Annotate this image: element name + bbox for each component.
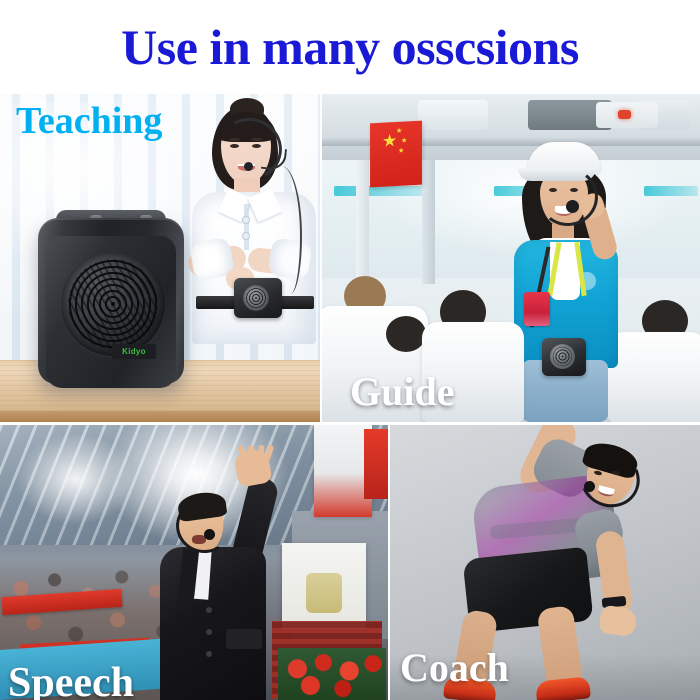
teacher-figure [178,100,320,366]
panel-guide: ★ ★ ★ ★ [322,94,700,422]
flag-star-icon: ★ [382,132,397,150]
amplifier-front-face [46,236,176,388]
speaker-figure [154,451,324,700]
ceiling-panel [418,100,488,130]
desk-edge [0,411,320,422]
panel-label-guide: Guide [350,372,454,412]
panel-speech: Speech [0,425,388,700]
suit-button [206,607,212,613]
hanging-banner [364,429,388,499]
passenger-head [386,316,426,352]
amplifier-body: Kidyo [38,218,184,384]
shirt-button [242,232,250,240]
tour-guide-figure [508,142,632,422]
speaker-grille-icon [61,252,165,356]
microphone-icon [566,200,579,213]
speaker-grille-icon [243,285,269,311]
shirt-placket [244,204,249,250]
flag-star-icon: ★ [398,148,404,155]
product-usage-collage: Use in many osscsions [0,0,700,700]
window-trim [334,186,424,196]
scene-collage: Kidyo Teaching ★ ★ [0,94,700,700]
panel-label-coach: Coach [400,648,509,688]
indicator-light-icon [618,110,631,119]
id-badge [524,292,550,326]
worn-voice-amplifier [542,338,586,376]
suit-button [206,629,212,635]
title-banner: Use in many osscsions [0,0,700,94]
black-suit [160,547,266,700]
shirt-button [242,216,250,224]
window-trim [644,186,698,196]
microphone-icon [204,529,215,540]
flag-star-icon: ★ [396,128,402,135]
product-voice-amplifier: Kidyo [38,208,184,384]
suit-pocket [226,629,262,649]
panel-label-speech: Speech [8,662,134,700]
hand-open [598,605,638,638]
microphone-icon [244,162,253,171]
suit-button [206,651,212,657]
stage-light-glare [16,433,136,525]
page-title: Use in many osscsions [121,22,579,72]
panel-coach: Coach [390,425,700,700]
panel-teaching: Kidyo Teaching [0,94,320,422]
headset-cable [270,166,302,294]
running-shoe-right [535,676,591,700]
speaker-grille-icon [550,344,575,369]
brand-logo: Kidyo [112,344,156,359]
chinese-flag-icon: ★ ★ ★ ★ [370,121,422,188]
microphone-icon [584,481,595,492]
flag-star-icon: ★ [401,137,407,144]
worn-voice-amplifier [234,278,282,318]
panel-label-teaching: Teaching [16,102,162,140]
